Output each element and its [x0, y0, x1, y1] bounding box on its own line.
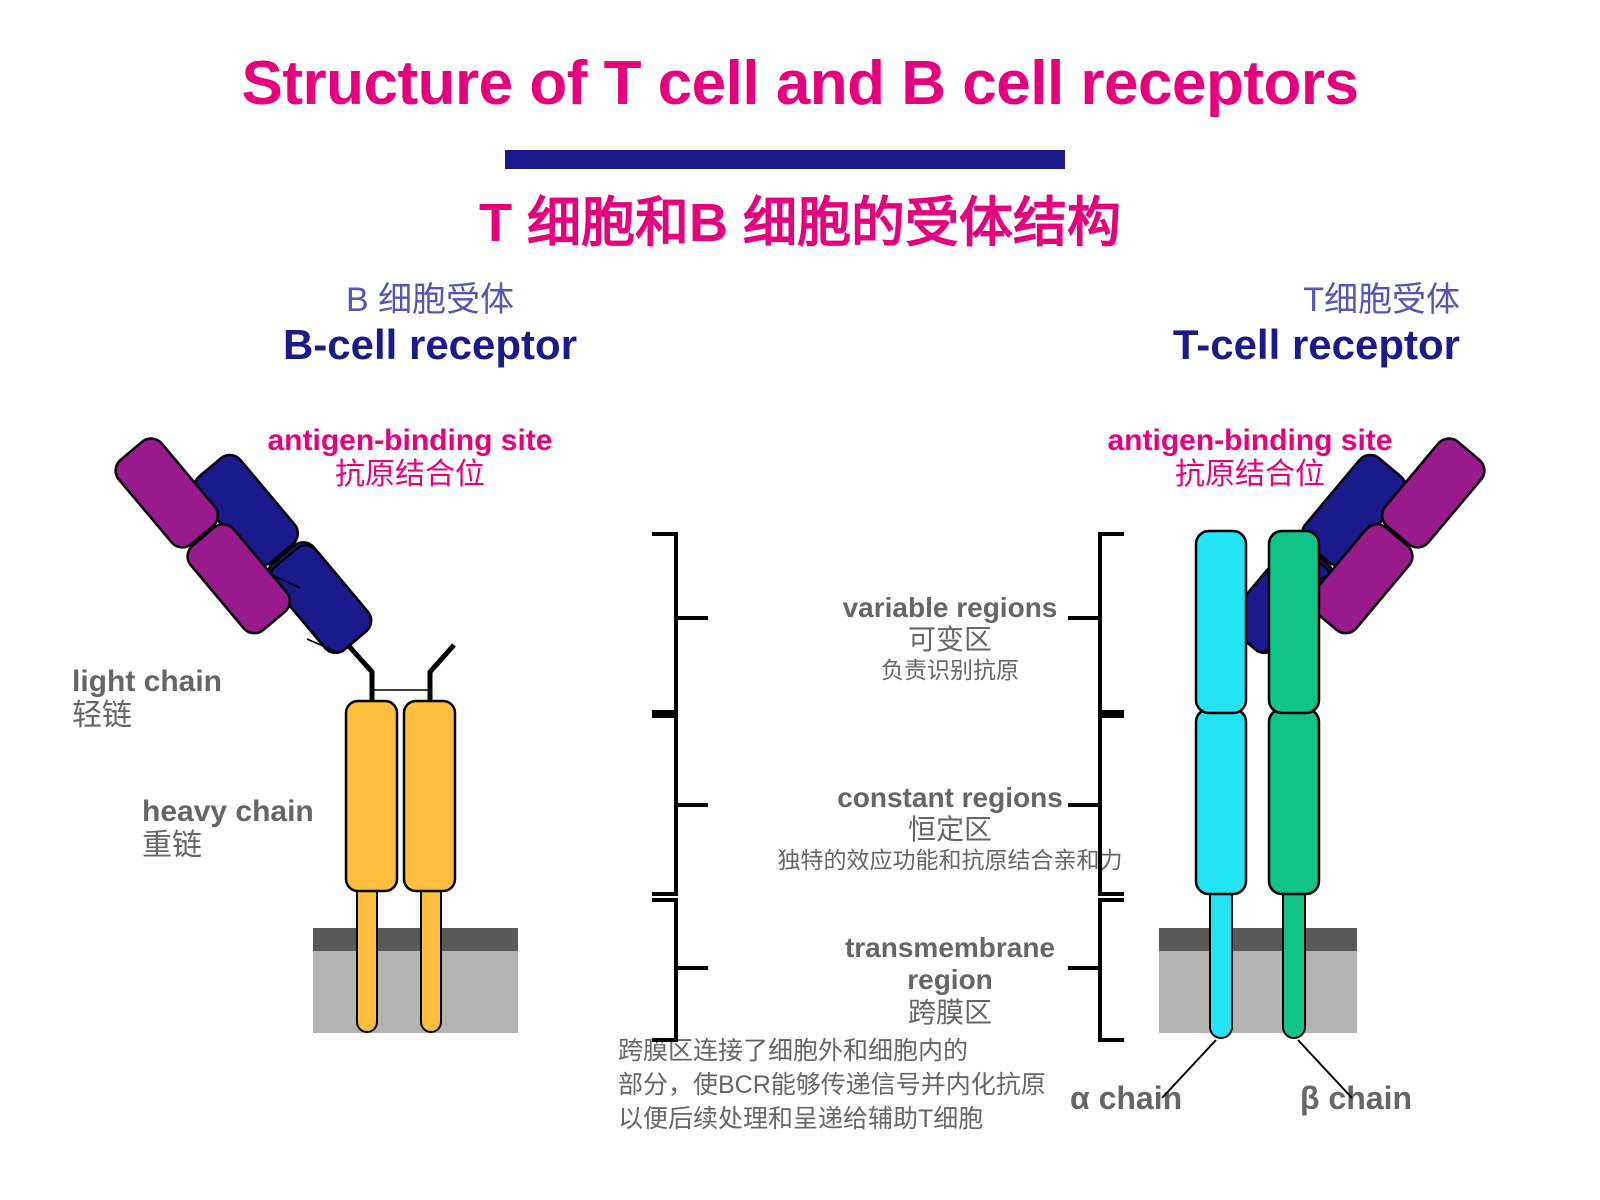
bcell-membrane: [313, 928, 518, 1033]
bcell-heavy-chain-constant-domains: [346, 701, 455, 891]
tcell-membrane: [1159, 928, 1357, 1033]
chain-leader-lines: [1162, 1040, 1352, 1098]
right-region-brackets: [1068, 534, 1124, 1040]
receptor-diagram-artwork: [0, 0, 1600, 1200]
bcell-right-arm: [1223, 433, 1490, 659]
left-region-brackets: [652, 534, 708, 1040]
bcell-left-arm: [110, 433, 377, 659]
bcell-hinge-region: [348, 645, 454, 701]
